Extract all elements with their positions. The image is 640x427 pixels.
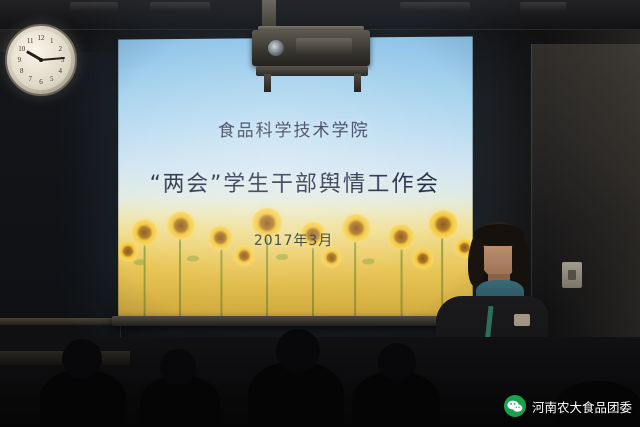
wall-clock: 12 1 2 3 4 5 6 7 8 9 10 11	[5, 24, 77, 96]
blackboard	[0, 52, 121, 342]
audience-head	[378, 343, 416, 381]
projector-mount-arm	[264, 74, 271, 92]
person-collar-accent	[514, 314, 530, 326]
clock-number: 6	[39, 78, 43, 86]
projector-body-detail	[296, 38, 352, 56]
person-hair-right	[512, 238, 530, 288]
ceiling-fixture	[400, 2, 470, 12]
slide-title-line2: “两会”学生干部舆情工作会	[118, 166, 472, 198]
screen-bottom-bar	[112, 316, 472, 326]
projector-mount-arm	[354, 74, 361, 92]
slide-sunflower-field	[118, 198, 472, 320]
ceiling-fixture	[70, 2, 118, 12]
clock-number: 1	[50, 37, 54, 45]
clock-number: 11	[27, 37, 34, 45]
watermark-text: 河南农大食品团委	[532, 397, 632, 416]
wall-outlet	[562, 262, 582, 288]
ceiling-fixture	[150, 2, 210, 12]
clock-number: 4	[58, 67, 62, 75]
clock-number: 10	[18, 45, 25, 53]
clock-number: 12	[38, 34, 45, 42]
sunflower	[322, 248, 341, 267]
slide-title-line1: 食品科学技术学院	[118, 115, 472, 141]
audience-head	[276, 329, 320, 373]
clock-number: 2	[58, 45, 62, 53]
clock-number: 9	[18, 56, 22, 64]
chalk-rail	[0, 318, 122, 325]
projector-lens	[268, 40, 284, 56]
watermark: 河南农大食品团委	[504, 395, 632, 417]
clock-center-pin	[39, 58, 43, 62]
audience-head	[62, 339, 102, 379]
projector-mount-bar	[256, 66, 368, 76]
photo-scene: 12 1 2 3 4 5 6 7 8 9 10 11	[0, 0, 640, 427]
sunflower-leaf	[362, 258, 374, 264]
clock-number: 7	[28, 75, 32, 83]
slide-date: 2017年3月	[118, 229, 472, 250]
clock-face: 12 1 2 3 4 5 6 7 8 9 10 11	[11, 30, 71, 90]
sunflower-leaf	[276, 254, 288, 260]
ceiling-fixture	[520, 2, 566, 12]
person-hair-left	[468, 240, 484, 286]
projection-screen: 食品科学技术学院 “两会”学生干部舆情工作会 2017年3月	[118, 36, 472, 319]
wechat-icon	[504, 395, 526, 417]
sunflower-leaf	[187, 255, 199, 261]
sunflower-stem	[220, 238, 222, 320]
clock-number: 5	[50, 75, 54, 83]
clock-number: 8	[20, 67, 24, 75]
audience-head	[160, 349, 196, 385]
sunflower-leaf	[134, 259, 146, 265]
